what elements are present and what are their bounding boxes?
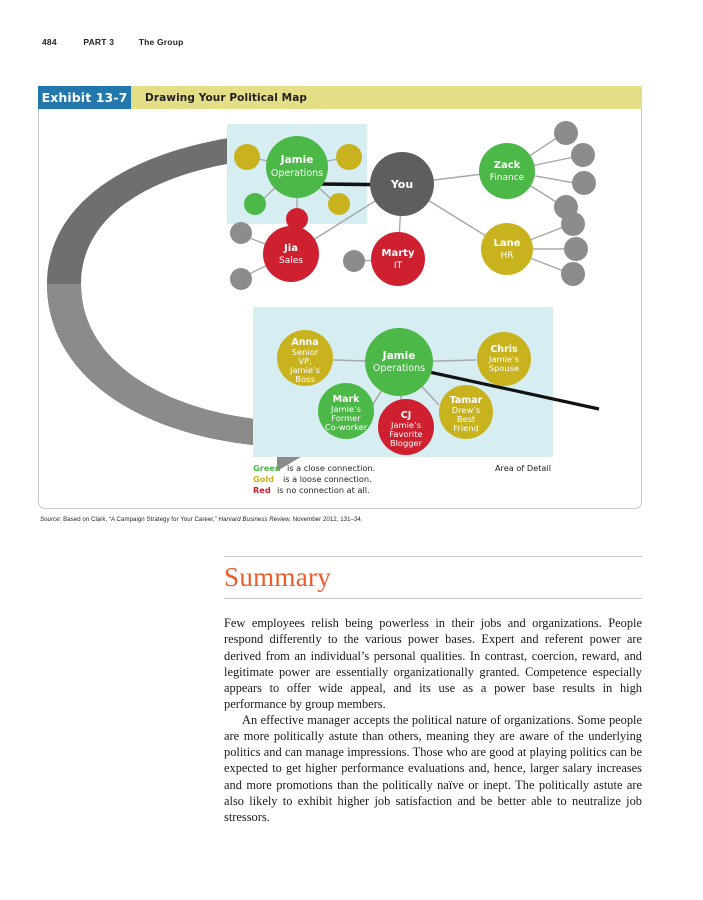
satellite-node (554, 121, 578, 145)
node-anna: Anna Senior VP, Jamie’s Boss (277, 330, 333, 386)
node-name: Lane (493, 238, 520, 249)
node-name: Jia (283, 243, 298, 254)
node-cj: CJ Jamie’s Favorite Blogger (378, 399, 434, 455)
summary-paragraph: Few employees relish being powerless in … (224, 615, 642, 712)
node-lane: Lane HR (481, 223, 533, 275)
satellite-node (564, 237, 588, 261)
node-role: IT (394, 261, 403, 271)
exhibit-body: Jamie Operations You Zack Finance Jia Sa… (38, 109, 642, 509)
node-role-line: Spouse (489, 363, 519, 373)
rule-below-heading (224, 598, 642, 599)
satellite-node (343, 250, 365, 272)
node-name: Zack (494, 160, 521, 171)
area-of-detail-label: Area of Detail (495, 463, 551, 473)
node-role-line: Blogger (390, 438, 423, 448)
source-journal-title: Harvard Business Review, (219, 516, 291, 523)
node-chris: Chris Jamie’s Spouse (477, 332, 531, 386)
exhibit-number-tab: Exhibit 13-7 (38, 86, 131, 109)
node-name: Jamie (280, 154, 314, 166)
satellite-node (336, 144, 362, 170)
legend-color-word: Red (253, 485, 271, 495)
legend-text: is a loose connection. (283, 474, 372, 484)
source-note: Source: Based on Clark, “A Campaign Stra… (40, 516, 363, 523)
node-role-line: Friend (453, 423, 479, 433)
node-role: Finance (490, 173, 525, 183)
source-lead: Source: (40, 516, 61, 523)
node-role: Operations (373, 363, 425, 374)
node-jia: Jia Sales (263, 226, 319, 282)
satellite-node (572, 171, 596, 195)
source-text-after: November 2012, 131–34. (291, 516, 363, 523)
legend-text: is a close connection. (287, 463, 375, 473)
node-jamie-overview: Jamie Operations (266, 136, 328, 198)
satellite-node (561, 212, 585, 236)
satellite-node (571, 143, 595, 167)
node-name: Marty (382, 248, 415, 259)
exhibit-box: Exhibit 13-7 Drawing Your Political Map (38, 86, 642, 510)
section-label: The Group (139, 37, 184, 47)
summary-body: Few employees relish being powerless in … (224, 615, 642, 825)
node-name: You (390, 178, 413, 191)
node-role-line: Boss (295, 374, 314, 384)
node-you: You (370, 152, 434, 216)
node-role: Sales (279, 256, 303, 266)
legend: Green is a close connection. Gold is a l… (253, 463, 375, 495)
summary-heading: Summary (224, 557, 642, 598)
node-jamie-detail: Jamie Operations (365, 328, 433, 396)
source-text-before: Based on Clark, “A Campaign Strategy for… (61, 516, 218, 523)
satellite-node (328, 193, 350, 215)
satellite-node (561, 262, 585, 286)
node-role-line: Co-worker (325, 422, 368, 432)
running-head: 484 PART 3 The Group (42, 37, 184, 47)
node-role: HR (500, 251, 513, 261)
summary-paragraph: An effective manager accepts the politic… (224, 712, 642, 825)
exhibit-title: Drawing Your Political Map (131, 86, 642, 109)
legend-color-word: Gold (253, 474, 274, 484)
node-zack: Zack Finance (479, 143, 535, 199)
node-mark: Mark Jamie’s Former Co-worker (318, 383, 374, 439)
node-marty: Marty IT (371, 232, 425, 286)
political-map-figure: Jamie Operations You Zack Finance Jia Sa… (39, 109, 641, 508)
summary-section: Summary Few employees relish being power… (224, 556, 642, 825)
node-name: Jamie (382, 350, 416, 362)
part-label: PART 3 (83, 37, 114, 47)
satellite-node (230, 222, 252, 244)
exhibit-banner: Exhibit 13-7 Drawing Your Political Map (38, 86, 642, 109)
satellite-node (230, 268, 252, 290)
legend-color-word: Green (253, 463, 281, 473)
satellite-node (234, 144, 260, 170)
node-tamar: Tamar Drew’s Best Friend (439, 385, 493, 439)
page-number: 484 (42, 37, 57, 47)
satellite-node (244, 193, 266, 215)
node-role: Operations (271, 168, 323, 179)
legend-text: is no connection at all. (277, 485, 370, 495)
